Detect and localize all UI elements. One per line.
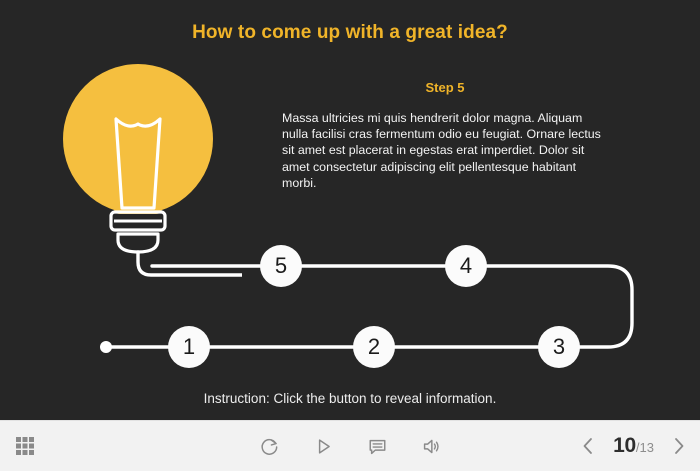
notes-button[interactable] (363, 432, 391, 460)
replay-button[interactable] (255, 432, 283, 460)
next-page-button[interactable] (668, 431, 690, 461)
course-player: How to come up with a great idea? Step 5 (0, 0, 700, 470)
chevron-left-icon (580, 436, 596, 456)
step-node-1[interactable]: 1 (168, 326, 210, 368)
play-icon (314, 437, 333, 456)
grid-menu-button[interactable] (10, 431, 40, 461)
step-node-5[interactable]: 5 (260, 245, 302, 287)
player-toolbar: 10 /13 (0, 420, 700, 471)
page-indicator: 10 /13 (613, 434, 654, 458)
path-start-dot (100, 341, 112, 353)
chevron-right-icon (671, 436, 687, 456)
step-body-text: Massa ultricies mi quis hendrerit dolor … (282, 110, 608, 191)
instruction-text: Instruction: Click the button to reveal … (0, 391, 700, 406)
step-node-label: 4 (460, 253, 472, 279)
grid-menu-icon (15, 436, 35, 456)
step-path-line (0, 228, 700, 378)
current-page-number: 10 (613, 434, 636, 458)
total-page-count: /13 (636, 440, 654, 455)
step-node-label: 3 (553, 334, 565, 360)
step-node-2[interactable]: 2 (353, 326, 395, 368)
volume-icon (422, 437, 441, 456)
replay-icon (260, 437, 279, 456)
prev-page-button[interactable] (577, 431, 599, 461)
step-node-label: 2 (368, 334, 380, 360)
pagination-controls: 10 /13 (577, 421, 690, 471)
step-heading: Step 5 (280, 80, 610, 95)
step-path: 1 2 3 4 5 (0, 228, 700, 378)
volume-button[interactable] (417, 432, 445, 460)
slide-stage: How to come up with a great idea? Step 5 (0, 0, 700, 420)
step-node-3[interactable]: 3 (538, 326, 580, 368)
step-node-4[interactable]: 4 (445, 245, 487, 287)
step-node-label: 5 (275, 253, 287, 279)
comment-icon (368, 437, 387, 456)
step-node-label: 1 (183, 334, 195, 360)
page-title: How to come up with a great idea? (0, 22, 700, 44)
play-button[interactable] (309, 432, 337, 460)
